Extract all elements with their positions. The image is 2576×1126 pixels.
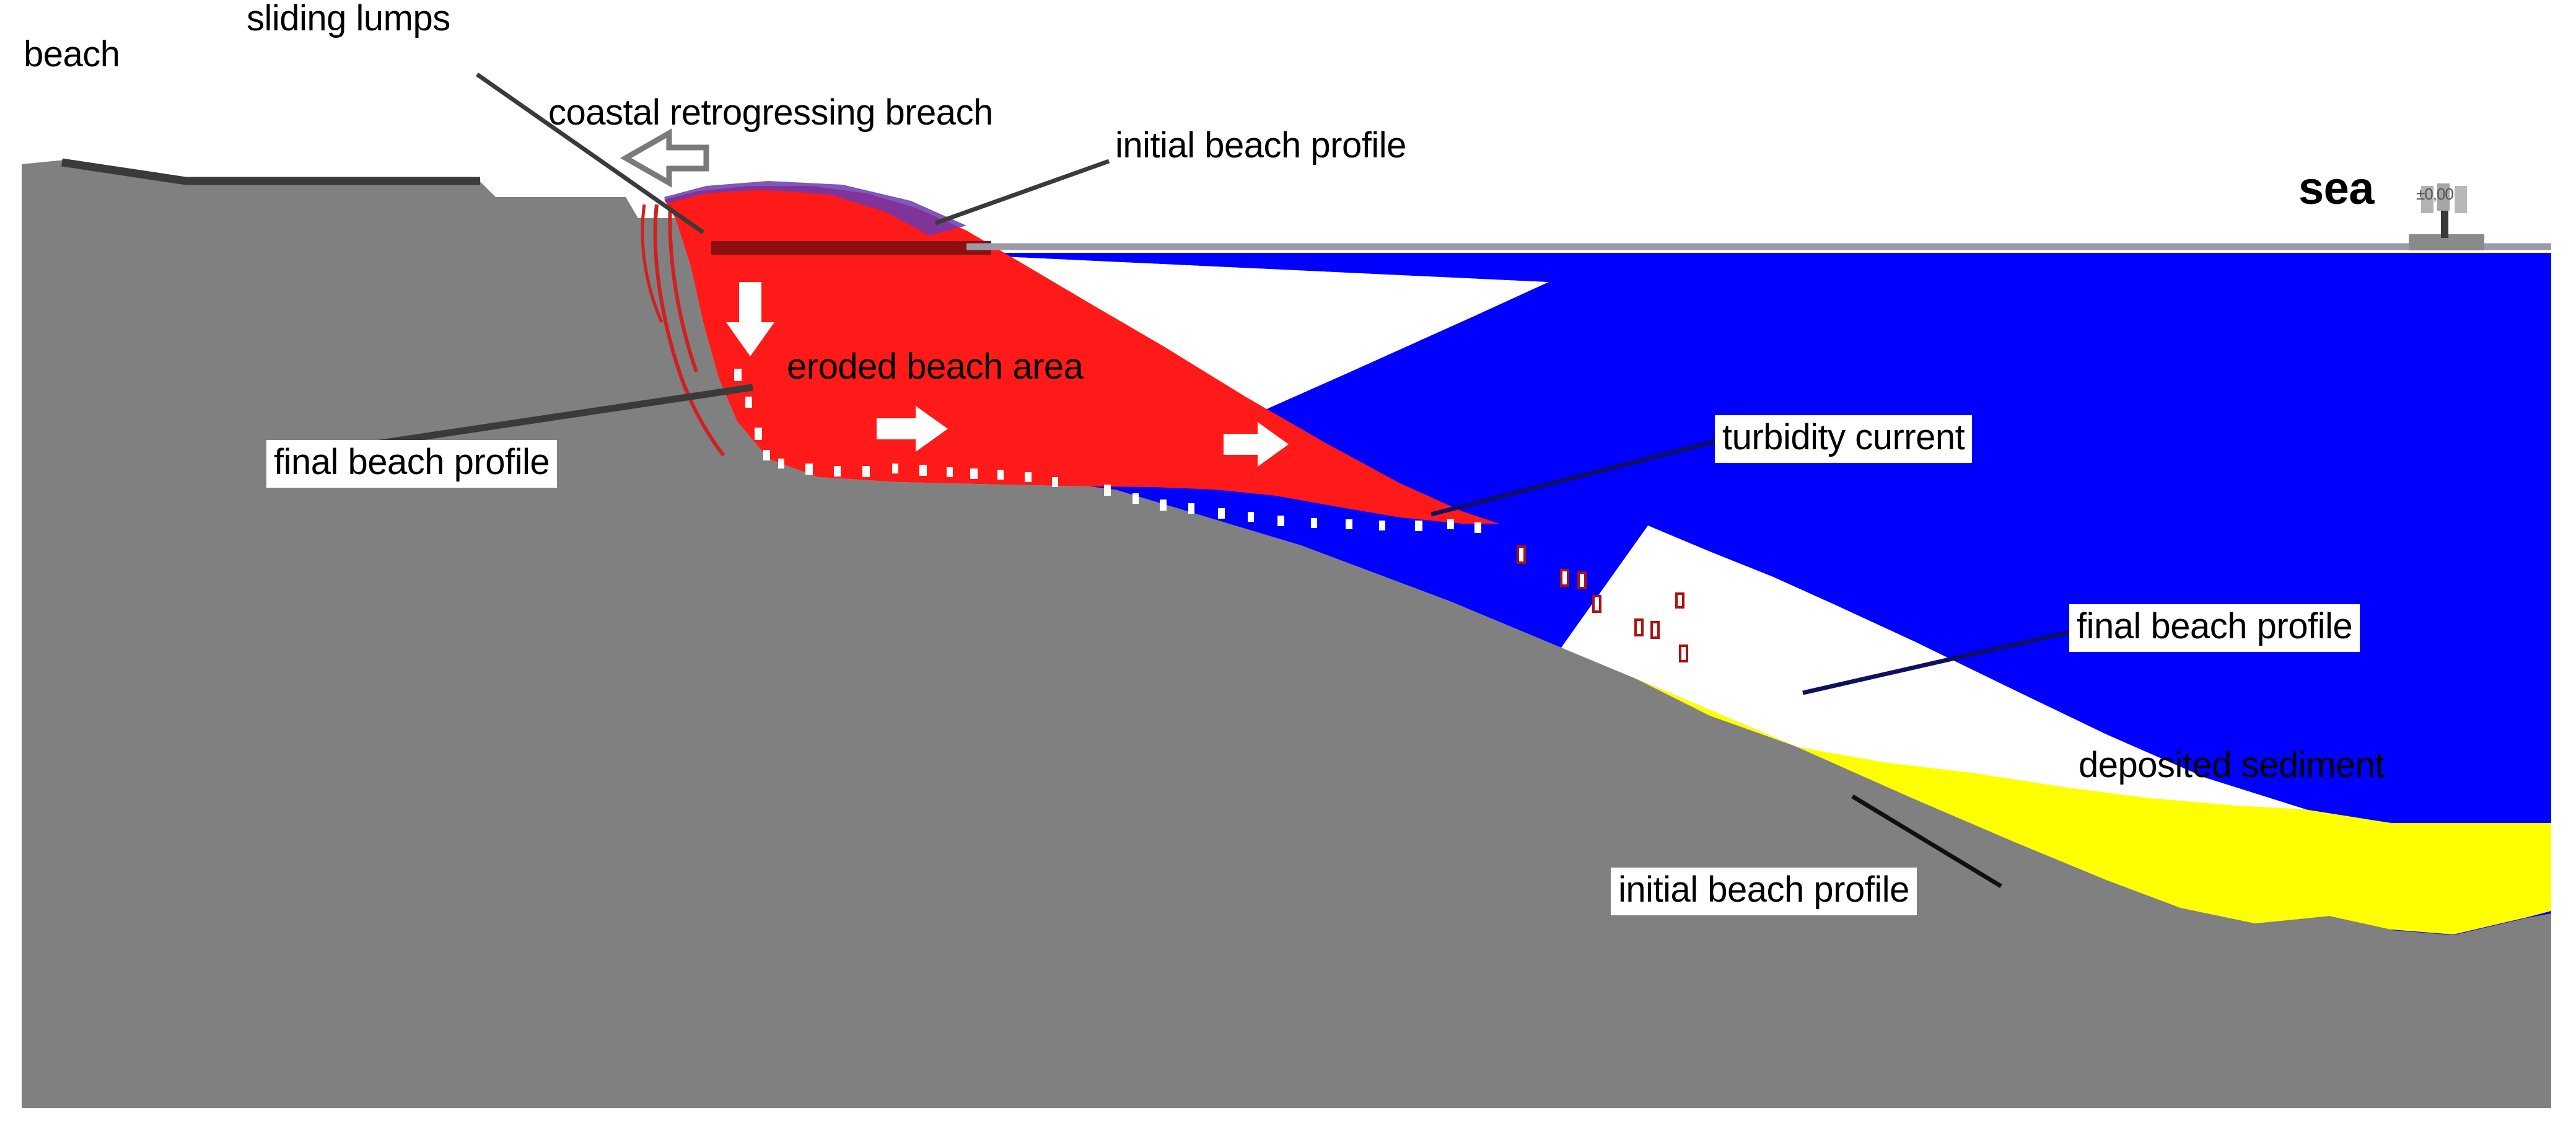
label-final-beach-profile-left: final beach profile	[266, 440, 557, 488]
diagram-canvas: beach sliding lumps coastal retrogressin…	[0, 0, 2576, 1126]
label-tide-level: ±0,00	[2416, 186, 2453, 203]
label-deposited-sediment: deposited sediment	[2079, 747, 2385, 785]
arrow-right-white-marker	[1182, 338, 1214, 351]
arrow-left-outline-icon[interactable]	[626, 133, 706, 183]
label-sea: sea	[2298, 164, 2374, 213]
label-final-beach-profile-right: final beach profile	[2069, 604, 2360, 652]
label-initial-beach-profile-top: initial beach profile	[1115, 127, 1406, 165]
label-sliding-lumps: sliding lumps	[247, 0, 450, 38]
label-initial-beach-profile-bottom: initial beach profile	[1611, 868, 1917, 915]
coastal-erosion-cross-section	[0, 0, 2576, 1126]
label-coastal-retrogressing-breach: coastal retrogressing breach	[548, 94, 993, 132]
label-beach: beach	[24, 36, 120, 74]
label-eroded-beach-area: eroded beach area	[787, 348, 1083, 386]
leader-initial-profile-top	[935, 161, 1109, 223]
label-turbidity-current: turbidity current	[1715, 415, 1972, 463]
